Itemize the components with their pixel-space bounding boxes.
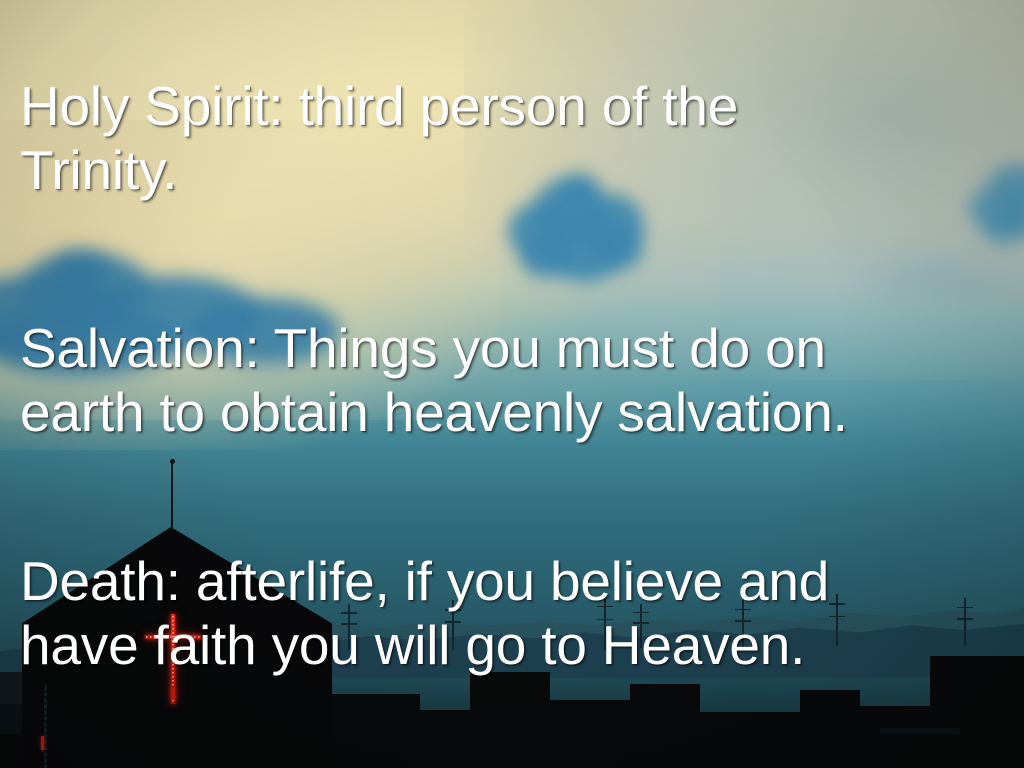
paragraph-holy-spirit: Holy Spirit: third person of the Trinity… <box>20 74 1010 202</box>
presentation-slide: Holy Spirit: third person of the Trinity… <box>0 0 1024 768</box>
paragraph-salvation: Salvation: Things you must do on earth t… <box>20 316 1010 444</box>
paragraph-death: Death: afterlife, if you believe and hav… <box>20 549 1010 677</box>
slide-text-layer: Holy Spirit: third person of the Trinity… <box>0 0 1024 768</box>
